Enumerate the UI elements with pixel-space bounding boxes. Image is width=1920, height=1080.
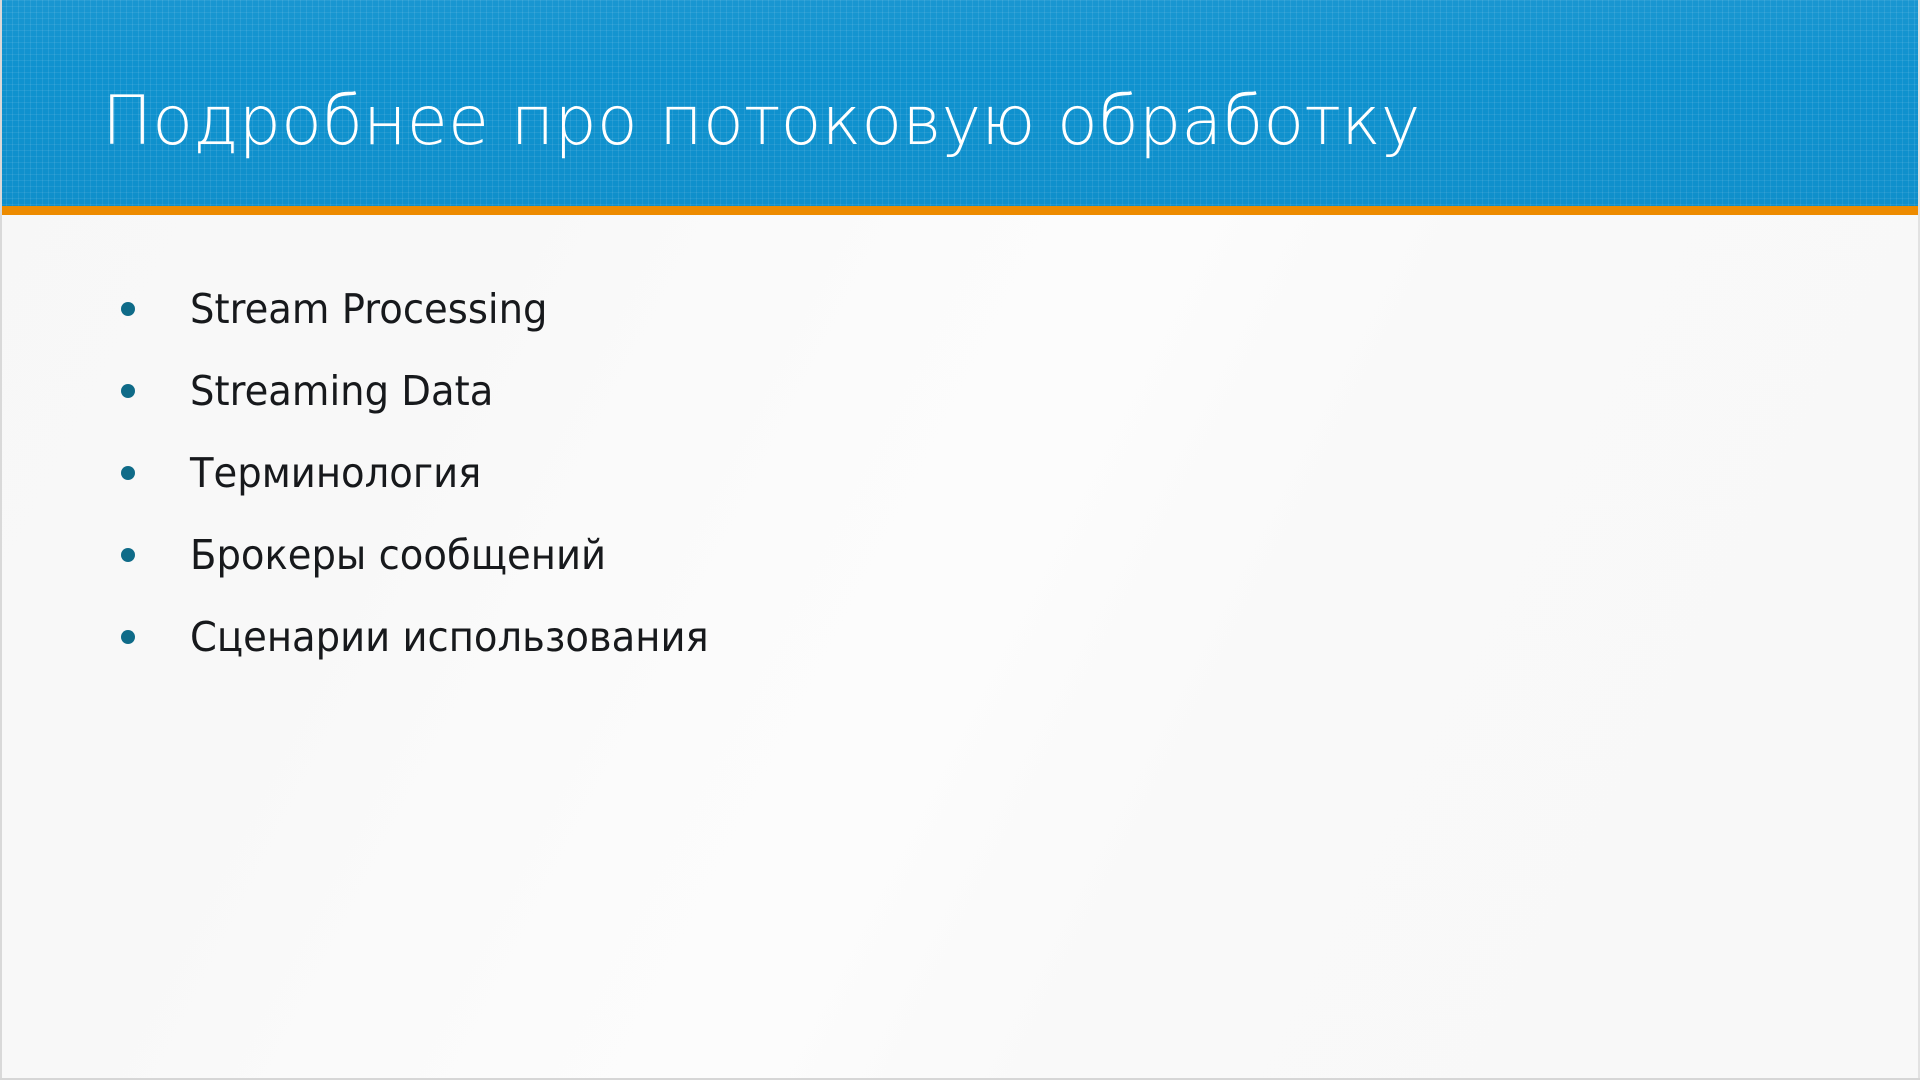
list-item[interactable]: Брокеры сообщений bbox=[0, 514, 1920, 596]
list-item[interactable]: Streaming Data bbox=[0, 350, 1920, 432]
list-item-label: Stream Processing bbox=[190, 284, 547, 334]
bullet-dot-icon bbox=[121, 466, 135, 480]
title-banner: Подробнее про потоковую обработку bbox=[0, 0, 1920, 206]
bullet-dot-icon bbox=[121, 384, 135, 398]
bullet-list: Stream Processing Streaming Data Термино… bbox=[0, 268, 1920, 678]
list-item-label: Сценарии использования bbox=[190, 612, 709, 662]
presentation-slide: Подробнее про потоковую обработку Stream… bbox=[0, 0, 1920, 1080]
bullet-dot-icon bbox=[121, 548, 135, 562]
list-item-label: Терминология bbox=[190, 448, 481, 498]
list-item[interactable]: Терминология bbox=[0, 432, 1920, 514]
accent-divider bbox=[0, 206, 1920, 215]
list-item[interactable]: Сценарии использования bbox=[0, 596, 1920, 678]
bullet-dot-icon bbox=[121, 630, 135, 644]
slide-edge-left bbox=[0, 0, 2, 1080]
bullet-dot-icon bbox=[121, 302, 135, 316]
list-item[interactable]: Stream Processing bbox=[0, 268, 1920, 350]
slide-title: Подробнее про потоковую обработку bbox=[102, 78, 1768, 166]
list-item-label: Брокеры сообщений bbox=[190, 530, 606, 580]
list-item-label: Streaming Data bbox=[190, 366, 493, 416]
